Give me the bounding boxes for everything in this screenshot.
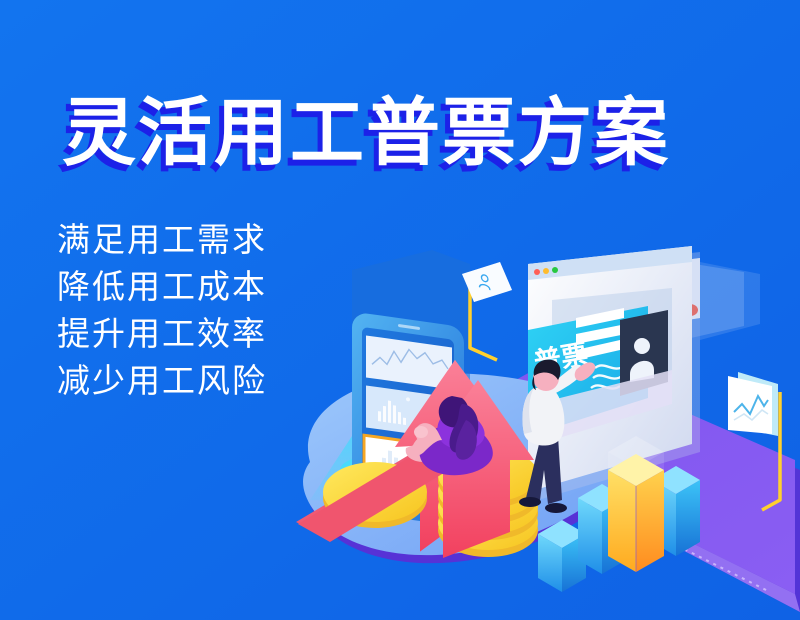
benefit-list: 满足用工需求 降低用工成本 提升用工效率 减少用工风险: [57, 216, 267, 404]
benefit-item-3: 提升用工效率: [57, 310, 267, 357]
benefit-item-1: 满足用工需求: [57, 216, 267, 263]
benefit-item-2: 降低用工成本: [57, 263, 267, 310]
promo-banner: 普票: [0, 0, 800, 620]
page-title: 灵活用工普票方案: [62, 92, 670, 174]
benefit-item-4: 减少用工风险: [57, 357, 267, 404]
bar-3: [608, 454, 664, 572]
